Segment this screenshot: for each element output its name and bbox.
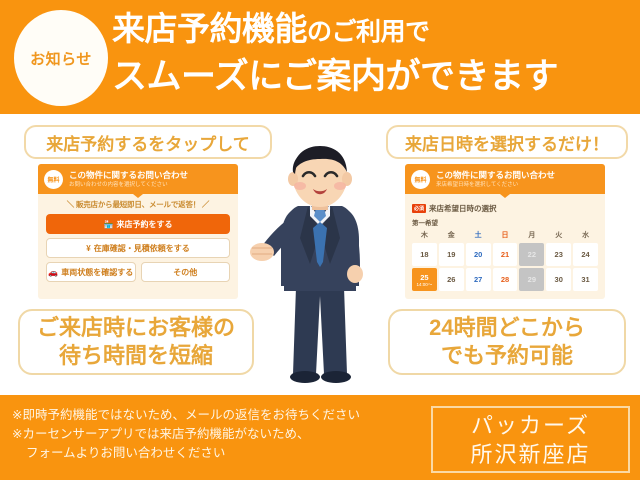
car-icon: 🚗 xyxy=(48,268,58,277)
calendar-dow-金: 金 xyxy=(439,230,464,241)
vehicle-condition-button-label: 車両状態を確認する xyxy=(61,267,133,278)
calendar-day-number: 24 xyxy=(581,250,589,259)
calendar-day-26[interactable]: 26 xyxy=(439,268,464,291)
benefit-left-line-2: 待ち時間を短縮 xyxy=(59,342,213,370)
free-badge-icon: 無料 xyxy=(44,170,63,189)
stock-quote-button[interactable]: ¥ 在庫確認・見積依頼をする xyxy=(46,238,230,258)
calendar-day-number: 26 xyxy=(447,275,455,284)
calendar-day-number: 28 xyxy=(501,275,509,284)
calendar-day-number: 31 xyxy=(581,275,589,284)
vehicle-condition-button[interactable]: 🚗 車両状態を確認する xyxy=(46,262,136,282)
notice-badge: お知らせ xyxy=(14,10,108,106)
benefit-right-line-1: 24時間どこから xyxy=(429,314,585,342)
calendar-dow-月: 月 xyxy=(519,230,544,241)
calendar-dow-土: 土 xyxy=(466,230,491,241)
reserve-visit-button-label: 来店予約をする xyxy=(116,219,172,230)
benefit-left-line-1: ご来店時にお客様の xyxy=(37,314,235,342)
calendar-day-25[interactable]: 2514:00〜 xyxy=(412,268,437,291)
calendar-section: 必須 来店希望日時の選択 第一希望 木金土日月火水181920212223242… xyxy=(405,198,605,291)
salesman-svg xyxy=(250,146,390,391)
calendar-day-27[interactable]: 27 xyxy=(466,268,491,291)
calendar-day-29: 29 xyxy=(519,268,544,291)
calendar-day-21[interactable]: 21 xyxy=(493,243,518,266)
shop-name-line-1: パッカーズ xyxy=(471,411,590,440)
disclaimer-line-1: ※即時予約機能ではないため、メールの返信をお待ちください xyxy=(12,406,412,425)
benefit-box-right: 24時間どこから でも予約可能 xyxy=(388,309,626,375)
step-label-left: 来店予約するをタップして xyxy=(24,125,272,159)
calendar-form-subtitle: 来店希望日時を選択してください xyxy=(436,181,555,189)
calendar-day-time: 14:00〜 xyxy=(417,282,433,287)
calendar-day-30[interactable]: 30 xyxy=(546,268,571,291)
card-notch xyxy=(133,194,143,198)
calendar-day-number: 29 xyxy=(528,275,536,284)
promo-banner: お知らせ 来店予約機能のご利用で スムーズにご案内ができます 来店予約するをタッ… xyxy=(0,0,640,480)
reply-note: ＼ 販売店から最短即日、メールで返答！ ／ xyxy=(38,199,238,210)
banner-body: 来店予約するをタップして 来店日時を選択するだけ！ 無料 この物件に関するお問い… xyxy=(0,114,640,395)
calendar-form-mock: 無料 この物件に関するお問い合わせ 来店希望日時を選択してください 必須 来店希… xyxy=(405,164,605,299)
calendar-form-header: 無料 この物件に関するお問い合わせ 来店希望日時を選択してください xyxy=(405,164,605,194)
free-badge-label: 無料 xyxy=(47,175,59,184)
calendar-choice-label: 第一希望 xyxy=(412,217,598,227)
calendar-section-title-row: 必須 来店希望日時の選択 xyxy=(412,203,598,214)
calendar-day-number: 20 xyxy=(474,250,482,259)
free-badge-icon-right: 無料 xyxy=(411,170,430,189)
salesman-illustration xyxy=(250,146,390,391)
inquiry-form-header: 無料 この物件に関するお問い合わせ お問い合わせの内容を選択してください xyxy=(38,164,238,194)
calendar-day-24[interactable]: 24 xyxy=(573,243,598,266)
shop-name-box: パッカーズ 所沢新座店 xyxy=(431,406,630,473)
yen-icon: ¥ xyxy=(86,244,90,253)
headline-line-1: 来店予約機能のご利用で xyxy=(112,8,636,53)
disclaimer-line-3: フォームよりお問い合わせください xyxy=(12,444,412,463)
calendar-day-18[interactable]: 18 xyxy=(412,243,437,266)
required-tag: 必須 xyxy=(412,204,426,213)
headline-line-1-main: 来店予約機能 xyxy=(112,10,307,47)
secondary-button-row: 🚗 車両状態を確認する その他 xyxy=(46,262,230,282)
store-icon: 🏪 xyxy=(104,220,114,229)
calendar-dow-木: 木 xyxy=(412,230,437,241)
banner-header: お知らせ 来店予約機能のご利用で スムーズにご案内ができます xyxy=(0,0,640,114)
calendar-section-title: 来店希望日時の選択 xyxy=(429,203,497,214)
disclaimer-block: ※即時予約機能ではないため、メールの返信をお待ちください ※カーセンサーアプリで… xyxy=(12,406,412,463)
calendar-dow-日: 日 xyxy=(493,230,518,241)
notice-badge-label: お知らせ xyxy=(30,48,92,69)
inquiry-form-mock: 無料 この物件に関するお問い合わせ お問い合わせの内容を選択してください ＼ 販… xyxy=(38,164,238,299)
disclaimer-line-2: ※カーセンサーアプリでは来店予約機能がないため、 xyxy=(12,425,412,444)
benefit-right-line-2: でも予約可能 xyxy=(441,342,573,370)
calendar-day-19[interactable]: 19 xyxy=(439,243,464,266)
headline-line-1-tail: のご利用で xyxy=(307,18,430,46)
calendar-day-28[interactable]: 28 xyxy=(493,268,518,291)
free-badge-label-right: 無料 xyxy=(414,175,426,184)
stock-quote-button-label: 在庫確認・見積依頼をする xyxy=(94,243,190,254)
benefit-box-left: ご来店時にお客様の 待ち時間を短縮 xyxy=(18,309,254,375)
calendar-dow-火: 火 xyxy=(546,230,571,241)
calendar-day-number: 21 xyxy=(501,250,509,259)
calendar-dow-水: 水 xyxy=(573,230,598,241)
calendar-day-number: 22 xyxy=(528,250,536,259)
calendar-day-number: 23 xyxy=(555,250,563,259)
inquiry-form-subtitle: お問い合わせの内容を選択してください xyxy=(69,181,188,189)
reserve-visit-button[interactable]: 🏪 来店予約をする xyxy=(46,214,230,234)
step-label-right: 来店日時を選択するだけ！ xyxy=(386,125,628,159)
headline-line-2: スムーズにご案内ができます xyxy=(112,55,636,99)
calendar-day-23[interactable]: 23 xyxy=(546,243,571,266)
calendar-form-title: この物件に関するお問い合わせ xyxy=(436,170,555,181)
calendar-day-number: 18 xyxy=(420,250,428,259)
calendar-day-20[interactable]: 20 xyxy=(466,243,491,266)
calendar-day-22: 22 xyxy=(519,243,544,266)
calendar-day-number: 30 xyxy=(555,275,563,284)
inquiry-form-title: この物件に関するお問い合わせ xyxy=(69,170,188,181)
calendar-day-number: 25 xyxy=(420,273,428,282)
shop-name-line-2: 所沢新座店 xyxy=(470,440,590,469)
calendar-day-number: 27 xyxy=(474,275,482,284)
other-button[interactable]: その他 xyxy=(141,262,231,282)
calendar-day-31[interactable]: 31 xyxy=(573,268,598,291)
banner-footer: ※即時予約機能ではないため、メールの返信をお待ちください ※カーセンサーアプリで… xyxy=(0,395,640,480)
calendar-grid: 木金土日月火水181920212223242514:00〜26272829303… xyxy=(412,230,598,291)
other-button-label: その他 xyxy=(173,267,197,278)
header-headline: 来店予約機能のご利用で スムーズにご案内ができます xyxy=(112,8,636,99)
calendar-day-number: 19 xyxy=(447,250,455,259)
